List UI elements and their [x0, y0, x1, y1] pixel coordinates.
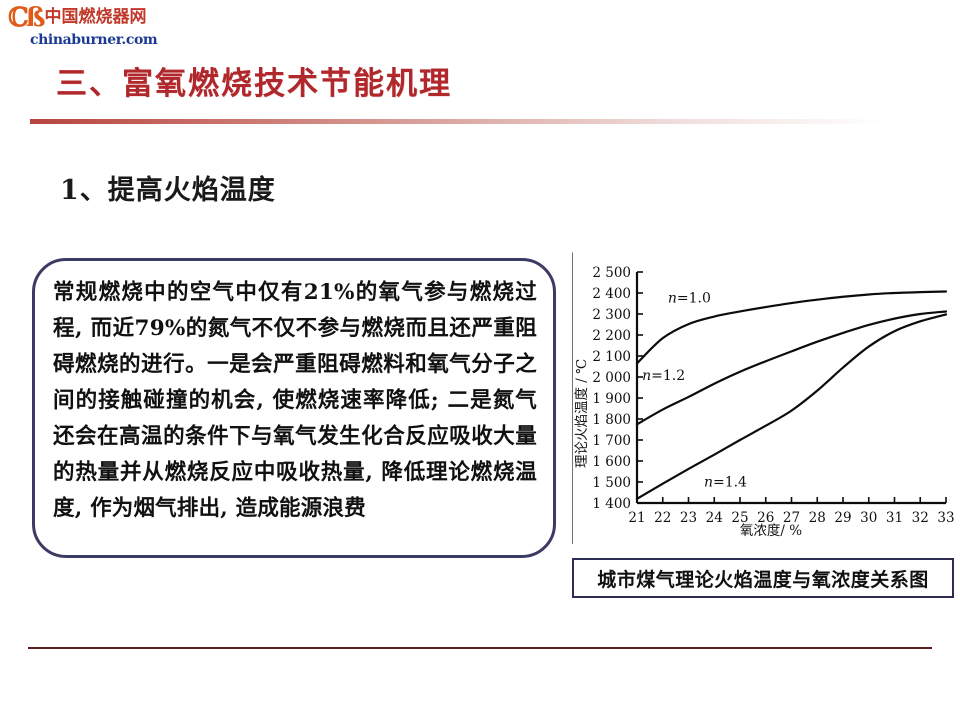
x-tick-label: 21	[628, 510, 645, 526]
x-tick-label: 31	[886, 510, 903, 526]
footer-divider-rule	[28, 647, 932, 649]
x-axis-title: 氧浓度/ %	[740, 523, 802, 539]
logo-domain-text: chinaburner.com	[30, 32, 158, 48]
curve-label-n14: n=1.4	[704, 475, 747, 491]
y-tick-label: 1 400	[592, 496, 631, 512]
logo-top-row: ℂß 中国燃烧器网	[8, 5, 158, 31]
y-tick-label: 1 800	[592, 412, 631, 428]
y-tick-label: 1 600	[592, 454, 631, 470]
slide-title: 三、富氧燃烧技术节能机理	[56, 58, 452, 103]
y-tick-label: 2 400	[592, 286, 631, 302]
curve-annotations: n=1.0n=1.2n=1.4	[642, 290, 747, 490]
y-tick-label: 2 200	[592, 328, 631, 344]
y-tick-label: 1 700	[592, 433, 631, 449]
title-divider-rule	[30, 119, 930, 124]
site-watermark-logo: ℂß 中国燃烧器网 chinaburner.com	[8, 6, 158, 46]
flame-temperature-chart: 理论火焰温度 / ℃ 1 4001 5001 6001 7001 8001 90…	[573, 253, 955, 545]
section-heading: 1、提高火焰温度	[60, 168, 276, 207]
y-axis-title: 理论火焰温度 / ℃	[574, 359, 590, 468]
curve-label-n10: n=1.0	[668, 290, 711, 306]
y-tick-label: 2 000	[592, 370, 631, 386]
chart-caption-text: 城市煤气理论火焰温度与氧浓度关系图	[597, 565, 929, 592]
curve-n14	[637, 314, 946, 498]
x-tick-label: 29	[834, 510, 851, 526]
x-tick-label: 24	[706, 510, 723, 526]
logo-mark-icon: ℂß	[8, 5, 42, 31]
y-tick-label: 1 900	[592, 391, 631, 407]
chart-panel: 理论火焰温度 / ℃ 1 4001 5001 6001 7001 8001 90…	[572, 252, 954, 544]
y-tick-label: 2 500	[592, 265, 631, 281]
body-paragraph: 常规燃烧中的空气中仅有21%的氧气参与燃烧过程, 而近79%的氮气不仅不参与燃烧…	[53, 275, 537, 527]
chart-curves	[637, 292, 946, 499]
y-tick-label: 2 100	[592, 349, 631, 365]
y-axis-ticks: 1 4001 5001 6001 7001 8001 9002 0002 100…	[592, 265, 643, 512]
y-tick-label: 1 500	[592, 475, 631, 491]
x-tick-label: 30	[860, 510, 877, 526]
curve-label-n12: n=1.2	[642, 368, 685, 384]
y-tick-label: 2 300	[592, 307, 631, 323]
chart-caption-box: 城市煤气理论火焰温度与氧浓度关系图	[572, 558, 954, 598]
x-tick-label: 23	[680, 510, 697, 526]
x-tick-label: 32	[912, 510, 929, 526]
body-text-box: 常规燃烧中的空气中仅有21%的氧气参与燃烧过程, 而近79%的氮气不仅不参与燃烧…	[32, 258, 556, 558]
x-axis-ticks: 21222324252627282930313233	[628, 497, 954, 526]
x-tick-label: 33	[937, 510, 954, 526]
x-tick-label: 22	[654, 510, 671, 526]
x-tick-label: 28	[809, 510, 826, 526]
logo-chinese-text: 中国燃烧器网	[44, 9, 146, 26]
